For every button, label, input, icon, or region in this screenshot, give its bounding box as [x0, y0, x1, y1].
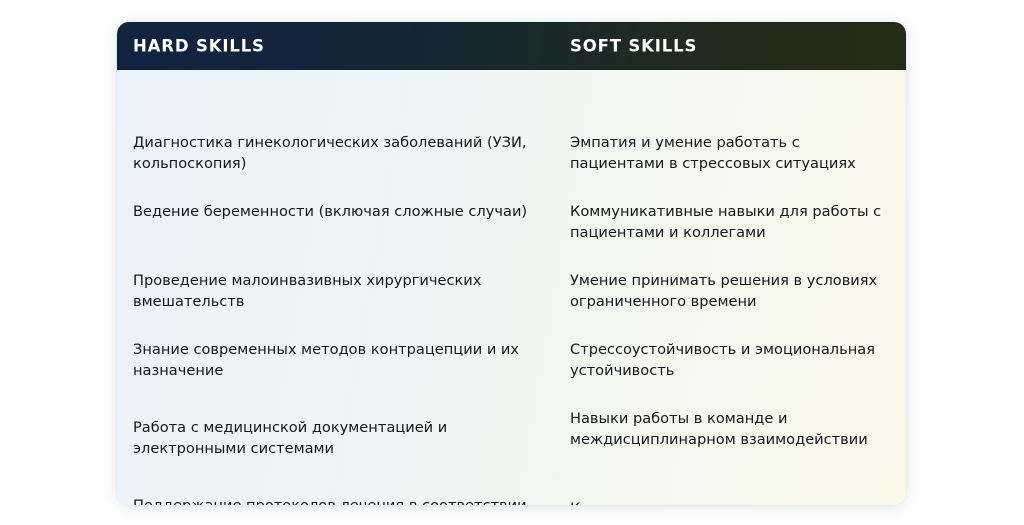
list-item: Умение принимать решения в условиях огра…: [570, 270, 888, 312]
list-item: Диагностика гинекологических заболеваний…: [133, 132, 538, 174]
column-header-hard-skills: HARD SKILLS: [133, 37, 265, 56]
list-item: Знание современных методов контрацепции …: [133, 339, 538, 381]
skills-comparison-card: HARD SKILLS SOFT SKILLS Диагностика гине…: [117, 22, 906, 505]
list-item: Эмпатия и умение работать с пациентами в…: [570, 132, 888, 174]
column-header-soft-skills: SOFT SKILLS: [570, 37, 697, 56]
list-item: Критическое мышление и аналитические спо…: [570, 498, 888, 505]
table-header-row: HARD SKILLS SOFT SKILLS: [117, 22, 906, 70]
list-item: Стрессоустойчивость и эмоциональная усто…: [570, 339, 888, 381]
table-body: Диагностика гинекологических заболеваний…: [117, 70, 906, 505]
list-item: Ведение беременности (включая сложные сл…: [133, 201, 538, 222]
list-item: Коммуникативные навыки для работы с паци…: [570, 201, 888, 243]
list-item: Проведение малоинвазивных хирургических …: [133, 270, 538, 312]
list-item: Навыки работы в команде и междисциплинар…: [570, 408, 888, 450]
page-background: HARD SKILLS SOFT SKILLS Диагностика гине…: [0, 0, 1024, 525]
list-item: Работа с медицинской документацией и эле…: [133, 417, 538, 459]
list-item: Поддержание протоколов лечения в соответ…: [133, 495, 538, 505]
